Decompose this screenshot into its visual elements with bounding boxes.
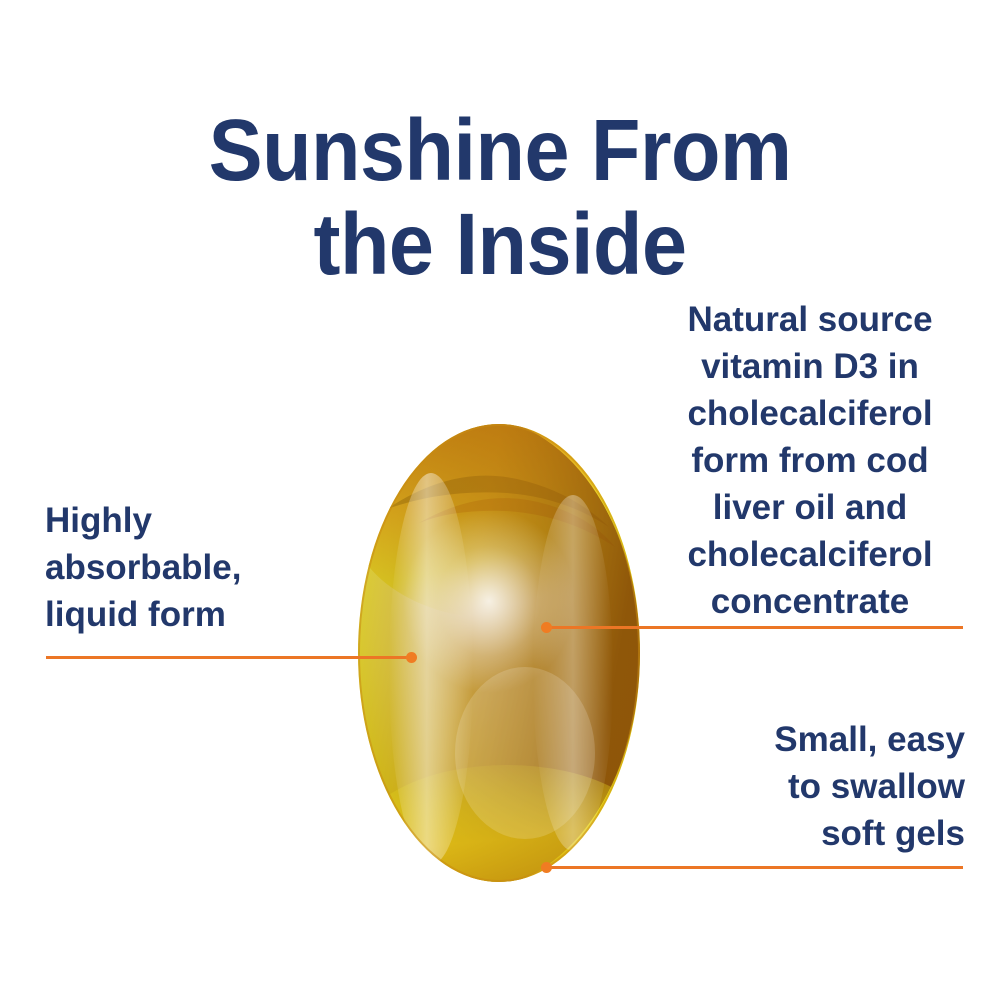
leader-line-left bbox=[46, 656, 412, 659]
softgel-capsule-image bbox=[357, 423, 642, 882]
callout-natural-source: Natural source vitamin D3 in cholecalcif… bbox=[655, 296, 965, 625]
capsule-lower-glow bbox=[455, 667, 595, 839]
leader-line-right-top bbox=[546, 626, 963, 629]
leader-line-right-bottom bbox=[546, 866, 963, 869]
softgel-capsule-graphic bbox=[357, 423, 642, 882]
callout-highly-absorbable: Highly absorbable, liquid form bbox=[45, 497, 345, 638]
leader-dot-right-bottom bbox=[541, 862, 552, 873]
page-title: Sunshine From the Inside bbox=[35, 104, 965, 292]
leader-dot-right-top bbox=[541, 622, 552, 633]
leader-dot-left bbox=[406, 652, 417, 663]
callout-small-easy-swallow: Small, easy to swallow soft gels bbox=[690, 716, 965, 857]
capsule-specular-highlight bbox=[403, 509, 575, 693]
infographic-canvas: Sunshine From the Inside bbox=[0, 0, 1000, 1000]
